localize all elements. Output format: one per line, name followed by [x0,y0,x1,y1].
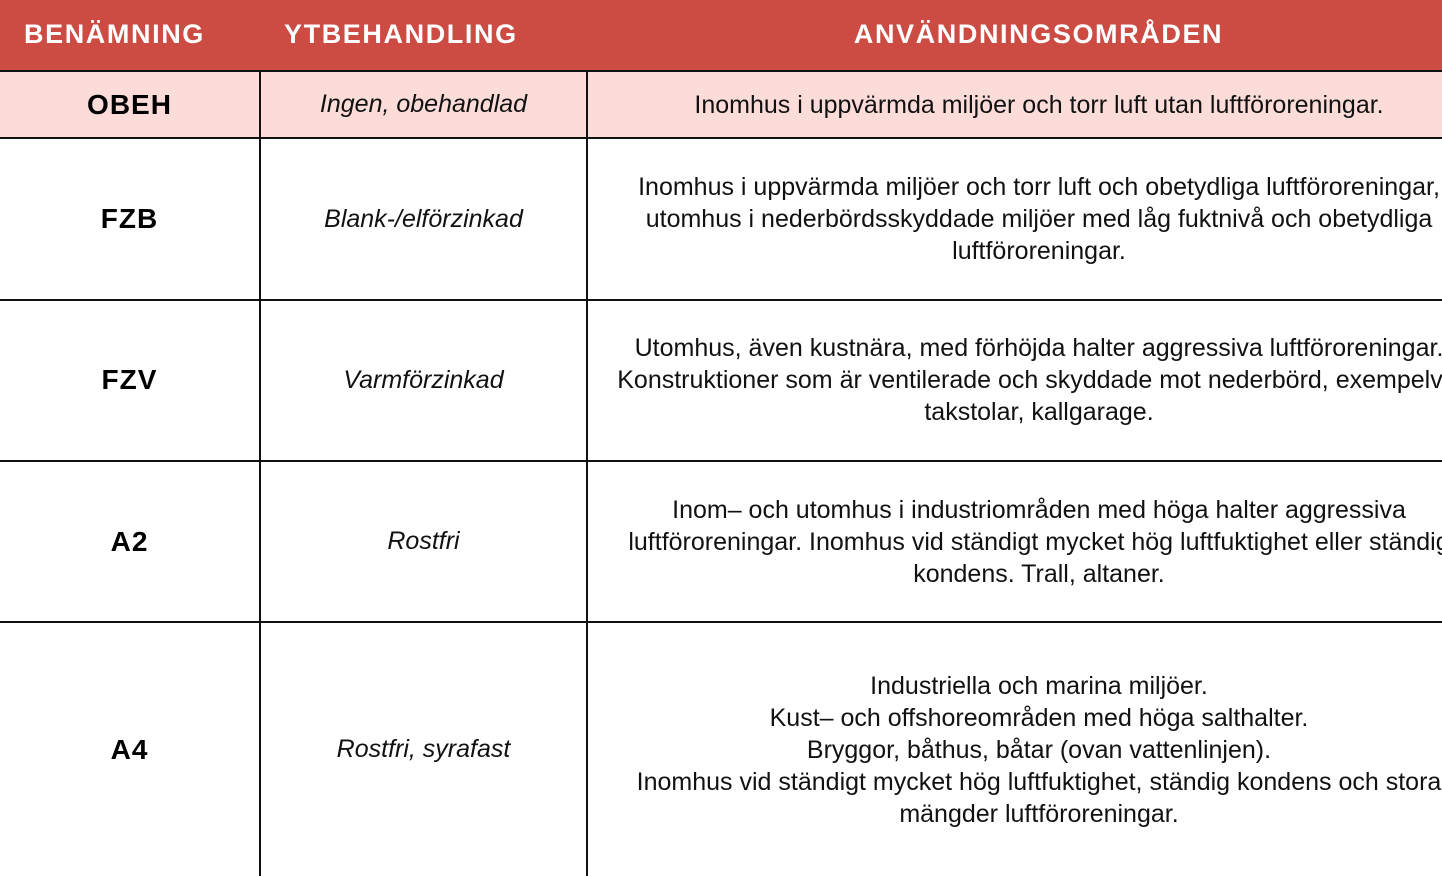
cell-benamning: FZB [0,138,260,299]
cell-anvandningsomraden: Utomhus, även kustnära, med förhöjda hal… [587,300,1442,461]
table-row: FZBBlank-/elförzinkadInomhus i uppvärmda… [0,138,1442,299]
cell-text-line: Inomhus vid ständigt mycket hög luftfukt… [614,766,1442,830]
table-row: A4Rostfri, syrafastIndustriella och mari… [0,622,1442,876]
cell-benamning: OBEH [0,71,260,138]
cell-benamning: FZV [0,300,260,461]
column-header-anvandningsomraden: ANVÄNDNINGSOMRÅDEN [587,0,1442,71]
cell-ytbehandling: Rostfri [260,461,587,622]
column-header-benamning: BENÄMNING [0,0,260,71]
cell-ytbehandling: Rostfri, syrafast [260,622,587,876]
cell-text-line: Bryggor, båthus, båtar (ovan vattenlinje… [614,734,1442,766]
column-header-ytbehandling: YTBEHANDLING [260,0,587,71]
table-row: FZVVarmförzinkadUtomhus, även kustnära, … [0,300,1442,461]
cell-ytbehandling: Varmförzinkad [260,300,587,461]
cell-ytbehandling: Blank-/elförzinkad [260,138,587,299]
table-row: A2RostfriInom– och utomhus i industriomr… [0,461,1442,622]
cell-benamning: A2 [0,461,260,622]
cell-anvandningsomraden: Industriella och marina miljöer.Kust– oc… [587,622,1442,876]
cell-anvandningsomraden: Inomhus i uppvärmda miljöer och torr luf… [587,138,1442,299]
cell-ytbehandling: Ingen, obehandlad [260,71,587,138]
cell-benamning: A4 [0,622,260,876]
surface-treatment-table: BENÄMNING YTBEHANDLING ANVÄNDNINGSOMRÅDE… [0,0,1442,876]
table-row: OBEHIngen, obehandladInomhus i uppvärmda… [0,71,1442,138]
table-body: OBEHIngen, obehandladInomhus i uppvärmda… [0,71,1442,876]
cell-anvandningsomraden: Inom– och utomhus i industriområden med … [587,461,1442,622]
table-header-row: BENÄMNING YTBEHANDLING ANVÄNDNINGSOMRÅDE… [0,0,1442,71]
cell-text-line: Kust– och offshoreområden med höga salth… [614,702,1442,734]
cell-text-line: Industriella och marina miljöer. [614,670,1442,702]
cell-anvandningsomraden: Inomhus i uppvärmda miljöer och torr luf… [587,71,1442,138]
surface-treatment-table-page: BULTEN F Ä S T E L E M E N T BENÄMNING Y… [0,0,1442,876]
table-container: BENÄMNING YTBEHANDLING ANVÄNDNINGSOMRÅDE… [0,0,1442,876]
table-header: BENÄMNING YTBEHANDLING ANVÄNDNINGSOMRÅDE… [0,0,1442,71]
